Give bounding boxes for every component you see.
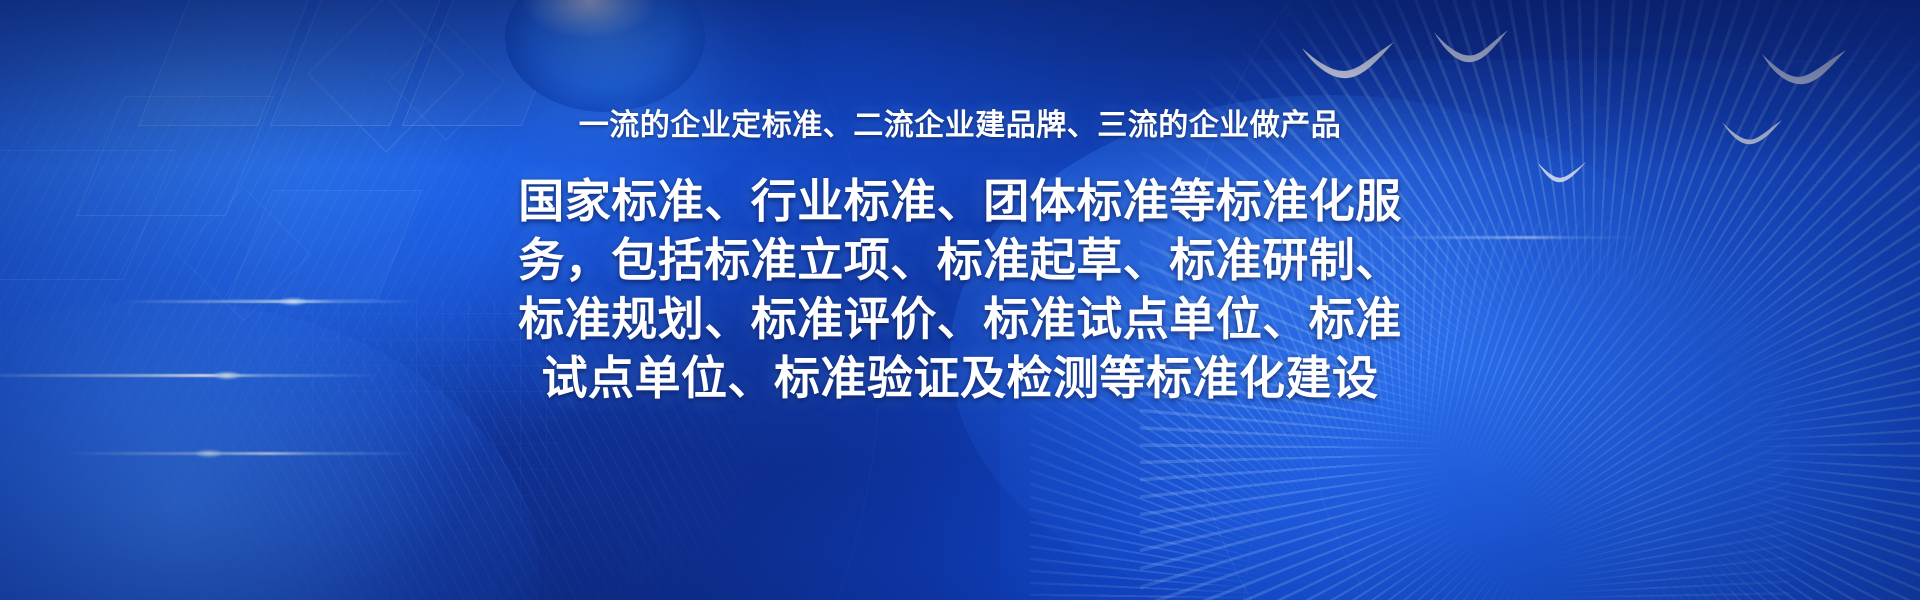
headline-line: 试点单位、标准验证及检测等标准化建设 (445, 349, 1475, 408)
headline-line: 务，包括标准立项、标准起草、标准研制、 (445, 231, 1475, 290)
banner-stage: 一流的企业定标准、二流企业建品牌、三流的企业做产品 国家标准、行业标准、团体标准… (0, 0, 1920, 600)
headline-line: 国家标准、行业标准、团体标准等标准化服 (445, 172, 1475, 231)
banner-content: 一流的企业定标准、二流企业建品牌、三流的企业做产品 国家标准、行业标准、团体标准… (0, 0, 1920, 600)
banner-headline: 国家标准、行业标准、团体标准等标准化服 务，包括标准立项、标准起草、标准研制、 … (445, 172, 1475, 408)
headline-line: 标准规划、标准评价、标准试点单位、标准 (445, 290, 1475, 349)
banner-subtitle: 一流的企业定标准、二流企业建品牌、三流的企业做产品 (579, 108, 1342, 144)
